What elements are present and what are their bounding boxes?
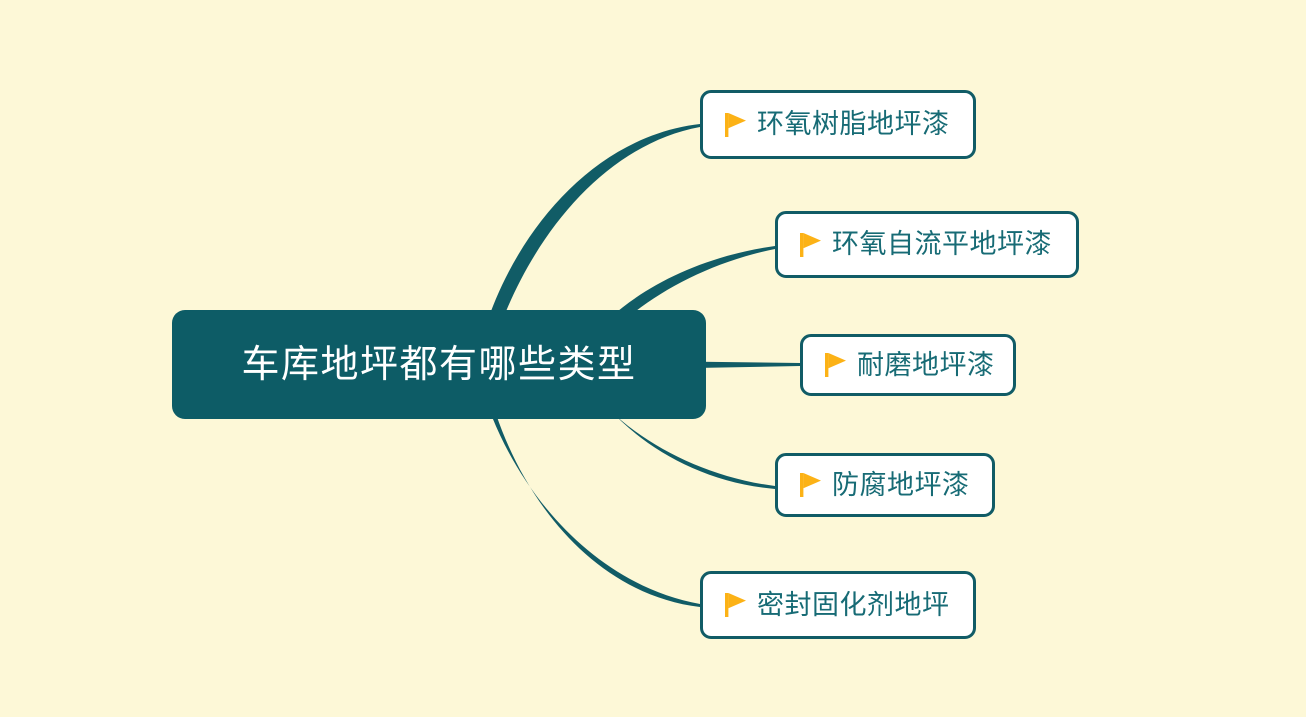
branch-node-3[interactable]: 耐磨地坪漆 [800, 334, 1016, 396]
branch-node-label: 耐磨地坪漆 [857, 352, 995, 379]
branch-node-label: 防腐地坪漆 [832, 472, 970, 499]
central-node[interactable]: 车库地坪都有哪些类型 [172, 310, 706, 419]
flag-icon [825, 352, 847, 378]
central-node-label: 车库地坪都有哪些类型 [241, 346, 636, 384]
branch-node-label: 密封固化剂地坪 [757, 592, 950, 619]
branch-node-2[interactable]: 环氧自流平地坪漆 [775, 211, 1079, 278]
flag-icon [725, 592, 747, 618]
branch-node-label: 环氧树脂地坪漆 [757, 111, 950, 138]
branch-node-label: 环氧自流平地坪漆 [832, 231, 1052, 258]
branch-node-5[interactable]: 密封固化剂地坪 [700, 571, 976, 639]
flag-icon [800, 232, 822, 258]
flag-icon [800, 472, 822, 498]
branch-node-1[interactable]: 环氧树脂地坪漆 [700, 90, 976, 159]
flag-icon [725, 112, 747, 138]
branch-node-4[interactable]: 防腐地坪漆 [775, 453, 995, 517]
mindmap-canvas: 车库地坪都有哪些类型 环氧树脂地坪漆 环氧自流平地坪漆 耐磨地坪漆 防腐地坪漆 [0, 0, 1306, 717]
